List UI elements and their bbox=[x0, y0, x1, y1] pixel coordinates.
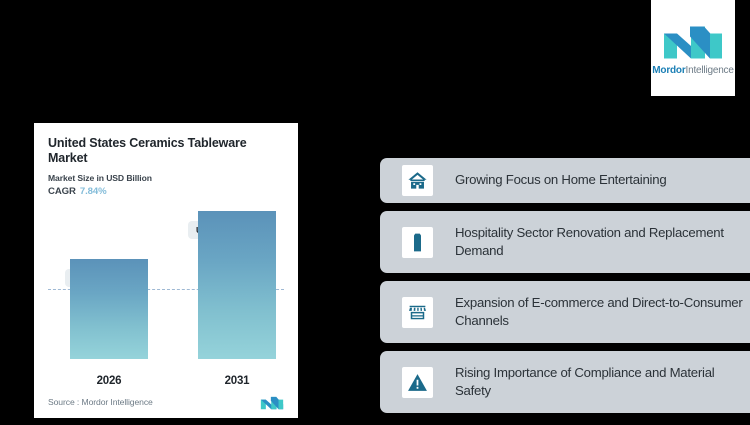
driver-card-compliance-safety[interactable]: Rising Importance of Compliance and Mate… bbox=[380, 351, 750, 413]
driver-label: Hospitality Sector Renovation and Replac… bbox=[455, 224, 750, 260]
source-text: Source : Mordor Intelligence bbox=[48, 397, 153, 407]
brand-word-secondary: Intelligence bbox=[686, 65, 734, 76]
driver-label: Expansion of E-commerce and Direct-to-Co… bbox=[455, 294, 750, 330]
brand-wordmark: MordorIntelligence bbox=[652, 66, 733, 76]
x-tick-2026: 2026 bbox=[70, 375, 148, 387]
bar-2026 bbox=[70, 259, 148, 359]
bar-2031 bbox=[198, 211, 276, 359]
brand-word-primary: Mordor bbox=[652, 65, 685, 76]
driver-card-ecommerce-expansion[interactable]: Expansion of E-commerce and Direct-to-Co… bbox=[380, 281, 750, 343]
mordor-intelligence-mark-icon bbox=[662, 21, 724, 61]
driver-card-hospitality-renovation[interactable]: Hospitality Sector Renovation and Replac… bbox=[380, 211, 750, 273]
market-drivers-list: Growing Focus on Home Entertaining Hospi… bbox=[380, 158, 750, 421]
chart-title: United States Ceramics Tableware Market bbox=[48, 136, 284, 167]
market-size-chart-card: United States Ceramics Tableware Market … bbox=[34, 123, 298, 418]
driver-label: Growing Focus on Home Entertaining bbox=[455, 171, 666, 189]
chart-plot-area: USD 11.42 B USD 7.83 B 2026 2031 bbox=[48, 211, 284, 389]
source-value: Mordor Intelligence bbox=[82, 397, 153, 407]
chart-subtitle: Market Size in USD Billion bbox=[48, 173, 284, 183]
warning-triangle-icon bbox=[402, 367, 433, 398]
brand-logo: MordorIntelligence bbox=[651, 0, 735, 96]
x-tick-2031: 2031 bbox=[198, 375, 276, 387]
storefront-icon bbox=[402, 297, 433, 328]
footer-brand-mark-icon bbox=[260, 395, 284, 410]
cagr-label: CAGR bbox=[48, 186, 76, 197]
chart-footer: Source : Mordor Intelligence bbox=[48, 395, 286, 411]
house-icon bbox=[402, 165, 433, 196]
building-icon bbox=[402, 227, 433, 258]
driver-label: Rising Importance of Compliance and Mate… bbox=[455, 364, 750, 400]
source-label: Source : bbox=[48, 397, 79, 407]
chart-cagr: CAGR7.84% bbox=[48, 186, 284, 197]
driver-card-home-entertaining[interactable]: Growing Focus on Home Entertaining bbox=[380, 158, 750, 203]
cagr-value: 7.84% bbox=[80, 186, 107, 197]
